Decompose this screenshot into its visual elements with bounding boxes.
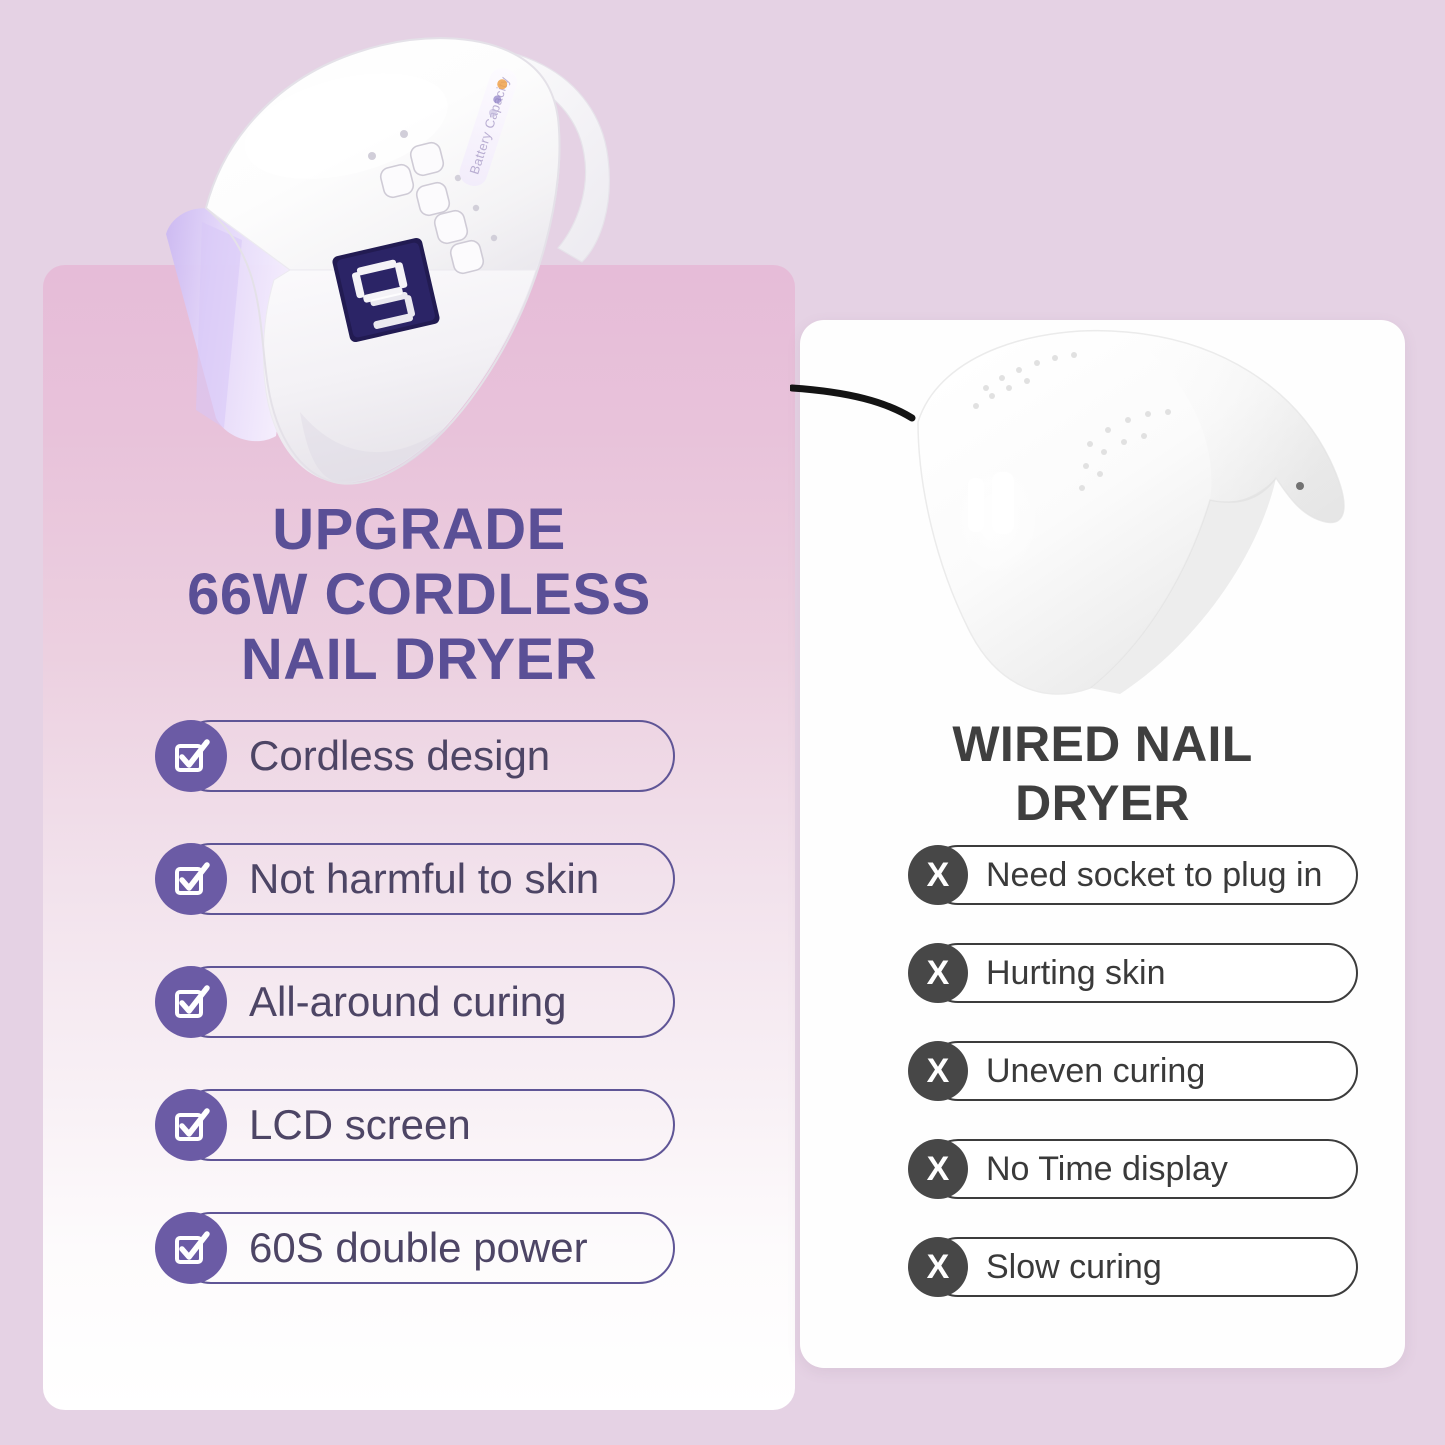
title-line-3: NAIL DRYER bbox=[43, 628, 795, 693]
drawback-label: Slow curing bbox=[986, 1248, 1162, 1287]
drawback-label: Hurting skin bbox=[986, 954, 1166, 993]
drawback-row: X Uneven curing bbox=[908, 1041, 1358, 1101]
drawback-row: X Need socket to plug in bbox=[908, 845, 1358, 905]
cross-mark-icon: X bbox=[908, 943, 968, 1003]
checkbox-checked-icon bbox=[155, 720, 227, 792]
feature-label: LCD screen bbox=[249, 1101, 471, 1149]
cross-mark-icon: X bbox=[908, 1237, 968, 1297]
cross-mark-glyph: X bbox=[927, 956, 950, 990]
feature-row: Cordless design bbox=[155, 720, 675, 792]
feature-row: All-around curing bbox=[155, 966, 675, 1038]
title-line-2: DRYER bbox=[800, 774, 1405, 833]
feature-label: Cordless design bbox=[249, 732, 550, 780]
left-panel-title: UPGRADE 66W CORDLESS NAIL DRYER bbox=[43, 498, 795, 693]
feature-row: Not harmful to skin bbox=[155, 843, 675, 915]
drawback-row: X Hurting skin bbox=[908, 943, 1358, 1003]
checkbox-checked-icon bbox=[155, 1089, 227, 1161]
cross-mark-icon: X bbox=[908, 845, 968, 905]
drawback-label: Uneven curing bbox=[986, 1052, 1205, 1091]
infographic-stage: UPGRADE 66W CORDLESS NAIL DRYER Cordless… bbox=[0, 0, 1445, 1445]
power-cable bbox=[792, 388, 912, 418]
feature-label: Not harmful to skin bbox=[249, 855, 599, 903]
feature-row: 60S double power bbox=[155, 1212, 675, 1284]
drawback-label: No Time display bbox=[986, 1150, 1228, 1189]
drawback-row: X Slow curing bbox=[908, 1237, 1358, 1297]
cordless-feature-list: Cordless design Not harmful to skin bbox=[155, 720, 675, 1284]
cross-mark-icon: X bbox=[908, 1139, 968, 1199]
drawback-label: Need socket to plug in bbox=[986, 856, 1322, 895]
feature-row: LCD screen bbox=[155, 1089, 675, 1161]
title-line-2: 66W CORDLESS bbox=[43, 563, 795, 628]
checkbox-checked-icon bbox=[155, 966, 227, 1038]
cordless-nail-dryer-image: Battery Capacity bbox=[150, 8, 670, 508]
checkbox-checked-icon bbox=[155, 1212, 227, 1284]
right-panel-title: WIRED NAIL DRYER bbox=[800, 715, 1405, 833]
cross-mark-glyph: X bbox=[927, 858, 950, 892]
cross-mark-glyph: X bbox=[927, 1054, 950, 1088]
cross-mark-glyph: X bbox=[927, 1250, 950, 1284]
drawback-row: X No Time display bbox=[908, 1139, 1358, 1199]
title-line-1: WIRED NAIL bbox=[800, 715, 1405, 774]
wired-nail-dryer-image bbox=[790, 310, 1390, 710]
checkbox-checked-icon bbox=[155, 843, 227, 915]
cross-mark-icon: X bbox=[908, 1041, 968, 1101]
cross-mark-glyph: X bbox=[927, 1152, 950, 1186]
feature-label: All-around curing bbox=[249, 978, 567, 1026]
wired-drawback-list: X Need socket to plug in X Hurting skin … bbox=[908, 845, 1358, 1297]
feature-label: 60S double power bbox=[249, 1224, 588, 1272]
